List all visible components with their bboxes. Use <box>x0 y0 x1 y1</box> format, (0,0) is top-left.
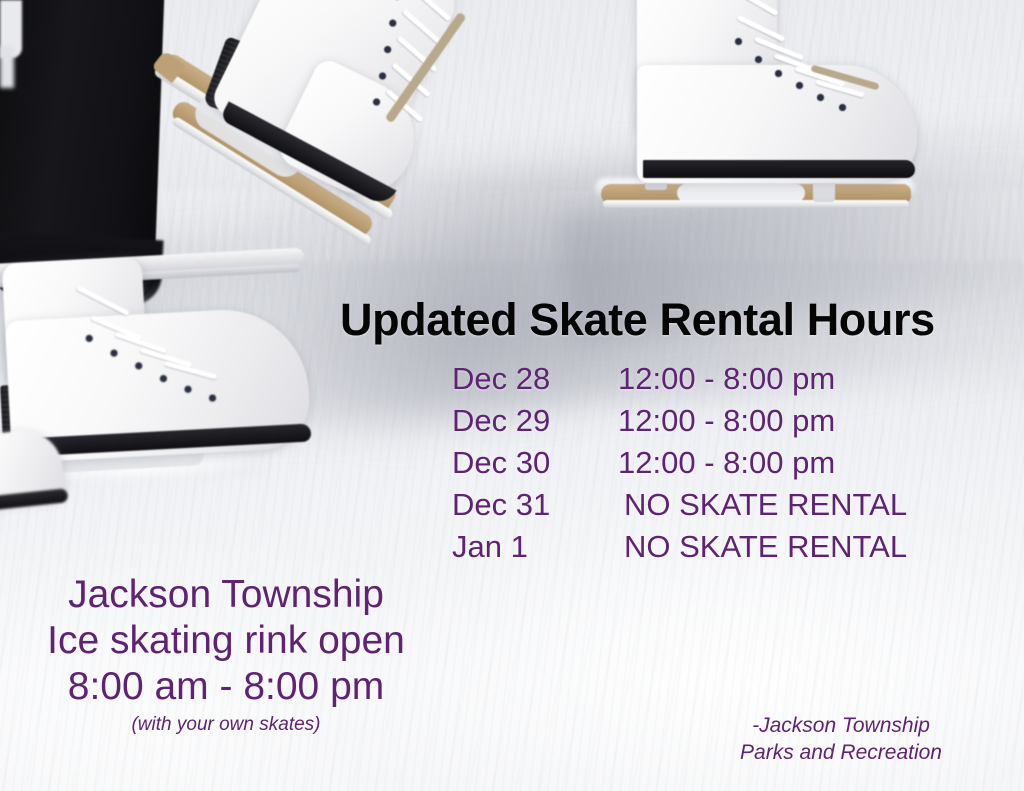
schedule-day: Dec 31 <box>452 484 618 526</box>
table-row: Jan 1 NO SKATE RENTAL <box>452 526 972 568</box>
signature-line-2: Parks and Recreation <box>740 739 942 766</box>
rink-info-block: Jackson Township Ice skating rink open 8… <box>16 572 436 738</box>
rink-info-note: (with your own skates) <box>16 712 436 738</box>
table-row: Dec 30 12:00 - 8:00 pm <box>452 442 972 484</box>
schedule-day: Jan 1 <box>452 526 618 568</box>
skate-rental-hours-poster: Updated Skate Rental Hours Dec 28 12:00 … <box>0 0 1024 791</box>
schedule-hours: 12:00 - 8:00 pm <box>618 358 972 400</box>
schedule-hours: 12:00 - 8:00 pm <box>618 442 972 484</box>
schedule-hours: NO SKATE RENTAL <box>618 526 972 568</box>
table-row: Dec 31 NO SKATE RENTAL <box>452 484 972 526</box>
schedule-hours: 12:00 - 8:00 pm <box>618 400 972 442</box>
poster-text-overlay: Updated Skate Rental Hours Dec 28 12:00 … <box>0 0 1024 791</box>
schedule-day: Dec 30 <box>452 442 618 484</box>
signature-block: -Jackson Township Parks and Recreation <box>740 712 942 766</box>
rink-info-line-2: Ice skating rink open <box>16 618 436 664</box>
poster-title: Updated Skate Rental Hours <box>340 297 1000 342</box>
signature-line-1: -Jackson Township <box>740 712 942 739</box>
schedule-day: Dec 28 <box>452 358 618 400</box>
rink-info-line-1: Jackson Township <box>16 572 436 618</box>
table-row: Dec 29 12:00 - 8:00 pm <box>452 400 972 442</box>
skate-rental-hours-table: Dec 28 12:00 - 8:00 pm Dec 29 12:00 - 8:… <box>452 358 972 568</box>
rink-info-line-3: 8:00 am - 8:00 pm <box>16 664 436 710</box>
schedule-day: Dec 29 <box>452 400 618 442</box>
schedule-hours: NO SKATE RENTAL <box>618 484 972 526</box>
table-row: Dec 28 12:00 - 8:00 pm <box>452 358 972 400</box>
